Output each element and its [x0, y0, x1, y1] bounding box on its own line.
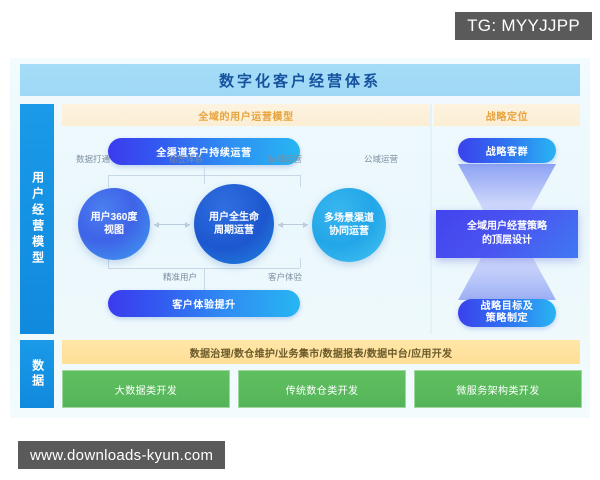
rail-data: 数据: [20, 340, 54, 408]
circle-user-360-view[interactable]: 用户360度 视图: [78, 188, 150, 260]
column-header-left-label: 全域的用户运营模型: [198, 108, 293, 123]
circle-multi-scenario-channel-line1: 多场景渠道: [324, 213, 374, 224]
data-governance-band: 数据治理/数仓维护/业务集市/数据报表/数据中台/应用开发: [62, 340, 580, 364]
edge-label-precise-user: 精准用户: [163, 271, 197, 283]
edge-label-tag-system: 标签体系: [169, 153, 203, 165]
pill-strategic-customer-group[interactable]: 战略客群: [458, 138, 556, 163]
circle-user-360-view-line1: 用户360度: [91, 212, 138, 223]
edge-label-customer-experience: 客户体验: [268, 271, 302, 283]
data-block-traditional-warehouse-label: 传统数仓类开发: [286, 382, 359, 397]
edge-label-public-domain: 公域运营: [364, 153, 398, 165]
rail-user-operation-model: 用户经营模型: [20, 104, 54, 334]
circle-user-lifecycle-operation[interactable]: 用户全生命 周期运营: [194, 184, 274, 264]
pill-customer-experience-improvement-label: 客户体验提升: [172, 296, 236, 311]
connector-bottom-center-vertical: [204, 268, 205, 290]
rail-label-model: 用户经营模型: [30, 171, 43, 267]
watermark-bottom-text: www.downloads-kyun.com: [30, 447, 213, 464]
connector-top-right-vertical: [300, 175, 301, 187]
block-top-level-design-line1: 全域用户经营策略: [467, 220, 547, 234]
circle-user-lifecycle-operation-line1: 用户全生命: [209, 212, 259, 223]
column-header-right: 战略定位: [434, 104, 580, 126]
data-block-bigdata[interactable]: 大数据类开发: [62, 370, 230, 408]
pill-customer-experience-improvement[interactable]: 客户体验提升: [108, 290, 300, 317]
block-top-level-design[interactable]: 全域用户经营策略 的顶层设计: [436, 210, 578, 258]
connector-bottom-right-vertical: [300, 258, 301, 268]
watermark-top-text: TG: MYYJJPP: [467, 16, 580, 36]
block-top-level-design-line2: 的顶层设计: [467, 234, 547, 248]
right-pane: 战略客群 全域用户经营策略 的顶层设计 战略目标及 策略制定: [434, 128, 580, 334]
watermark-bottom: www.downloads-kyun.com: [18, 441, 225, 469]
column-header-right-label: 战略定位: [486, 108, 528, 123]
pill-strategic-goal-line2: 策略制定: [481, 313, 534, 326]
circle-user-lifecycle-operation-line2: 周期运营: [214, 225, 254, 236]
data-block-traditional-warehouse[interactable]: 传统数仓类开发: [238, 370, 406, 408]
data-block-microservice[interactable]: 微服务架构类开发: [414, 370, 582, 408]
connector-top-center-vertical: [204, 165, 205, 184]
left-pane: 全渠道客户持续运营 用户360度 视图 用户全生命 周期运营 多场景渠道: [62, 128, 430, 334]
pane-divider: [430, 104, 432, 334]
circle-multi-scenario-channel-line2: 协同运营: [329, 226, 369, 237]
data-block-bigdata-label: 大数据类开发: [115, 382, 177, 397]
pill-strategic-goal-and-policy[interactable]: 战略目标及 策略制定: [458, 299, 556, 327]
watermark-top: TG: MYYJJPP: [455, 12, 592, 40]
connector-top-left-vertical: [108, 175, 109, 187]
arrow-between-circle2-circle3: [278, 224, 308, 225]
edge-label-private-domain: 私域运营: [268, 153, 302, 165]
data-block-microservice-label: 微服务架构类开发: [456, 382, 539, 397]
edge-label-data-integration: 数据打通: [76, 153, 110, 165]
data-governance-band-label: 数据治理/数仓维护/业务集市/数据报表/数据中台/应用开发: [190, 345, 453, 360]
pill-strategic-goal-line1: 战略目标及: [481, 301, 534, 314]
pill-strategic-customer-group-label: 战略客群: [486, 143, 528, 158]
circle-user-360-view-line2: 视图: [104, 225, 124, 236]
board-title-bar: 数字化客户经营体系: [20, 64, 580, 96]
circle-multi-scenario-channel[interactable]: 多场景渠道 协同运营: [312, 188, 386, 262]
rail-label-data: 数据: [30, 359, 43, 389]
arrow-between-circle1-circle2: [154, 224, 190, 225]
infographic-board: 数字化客户经营体系 用户经营模型 数据 全域的用户运营模型 战略定位 全渠道客户…: [10, 58, 590, 418]
column-header-left: 全域的用户运营模型: [62, 104, 430, 126]
page-title: 数字化客户经营体系: [219, 70, 381, 91]
